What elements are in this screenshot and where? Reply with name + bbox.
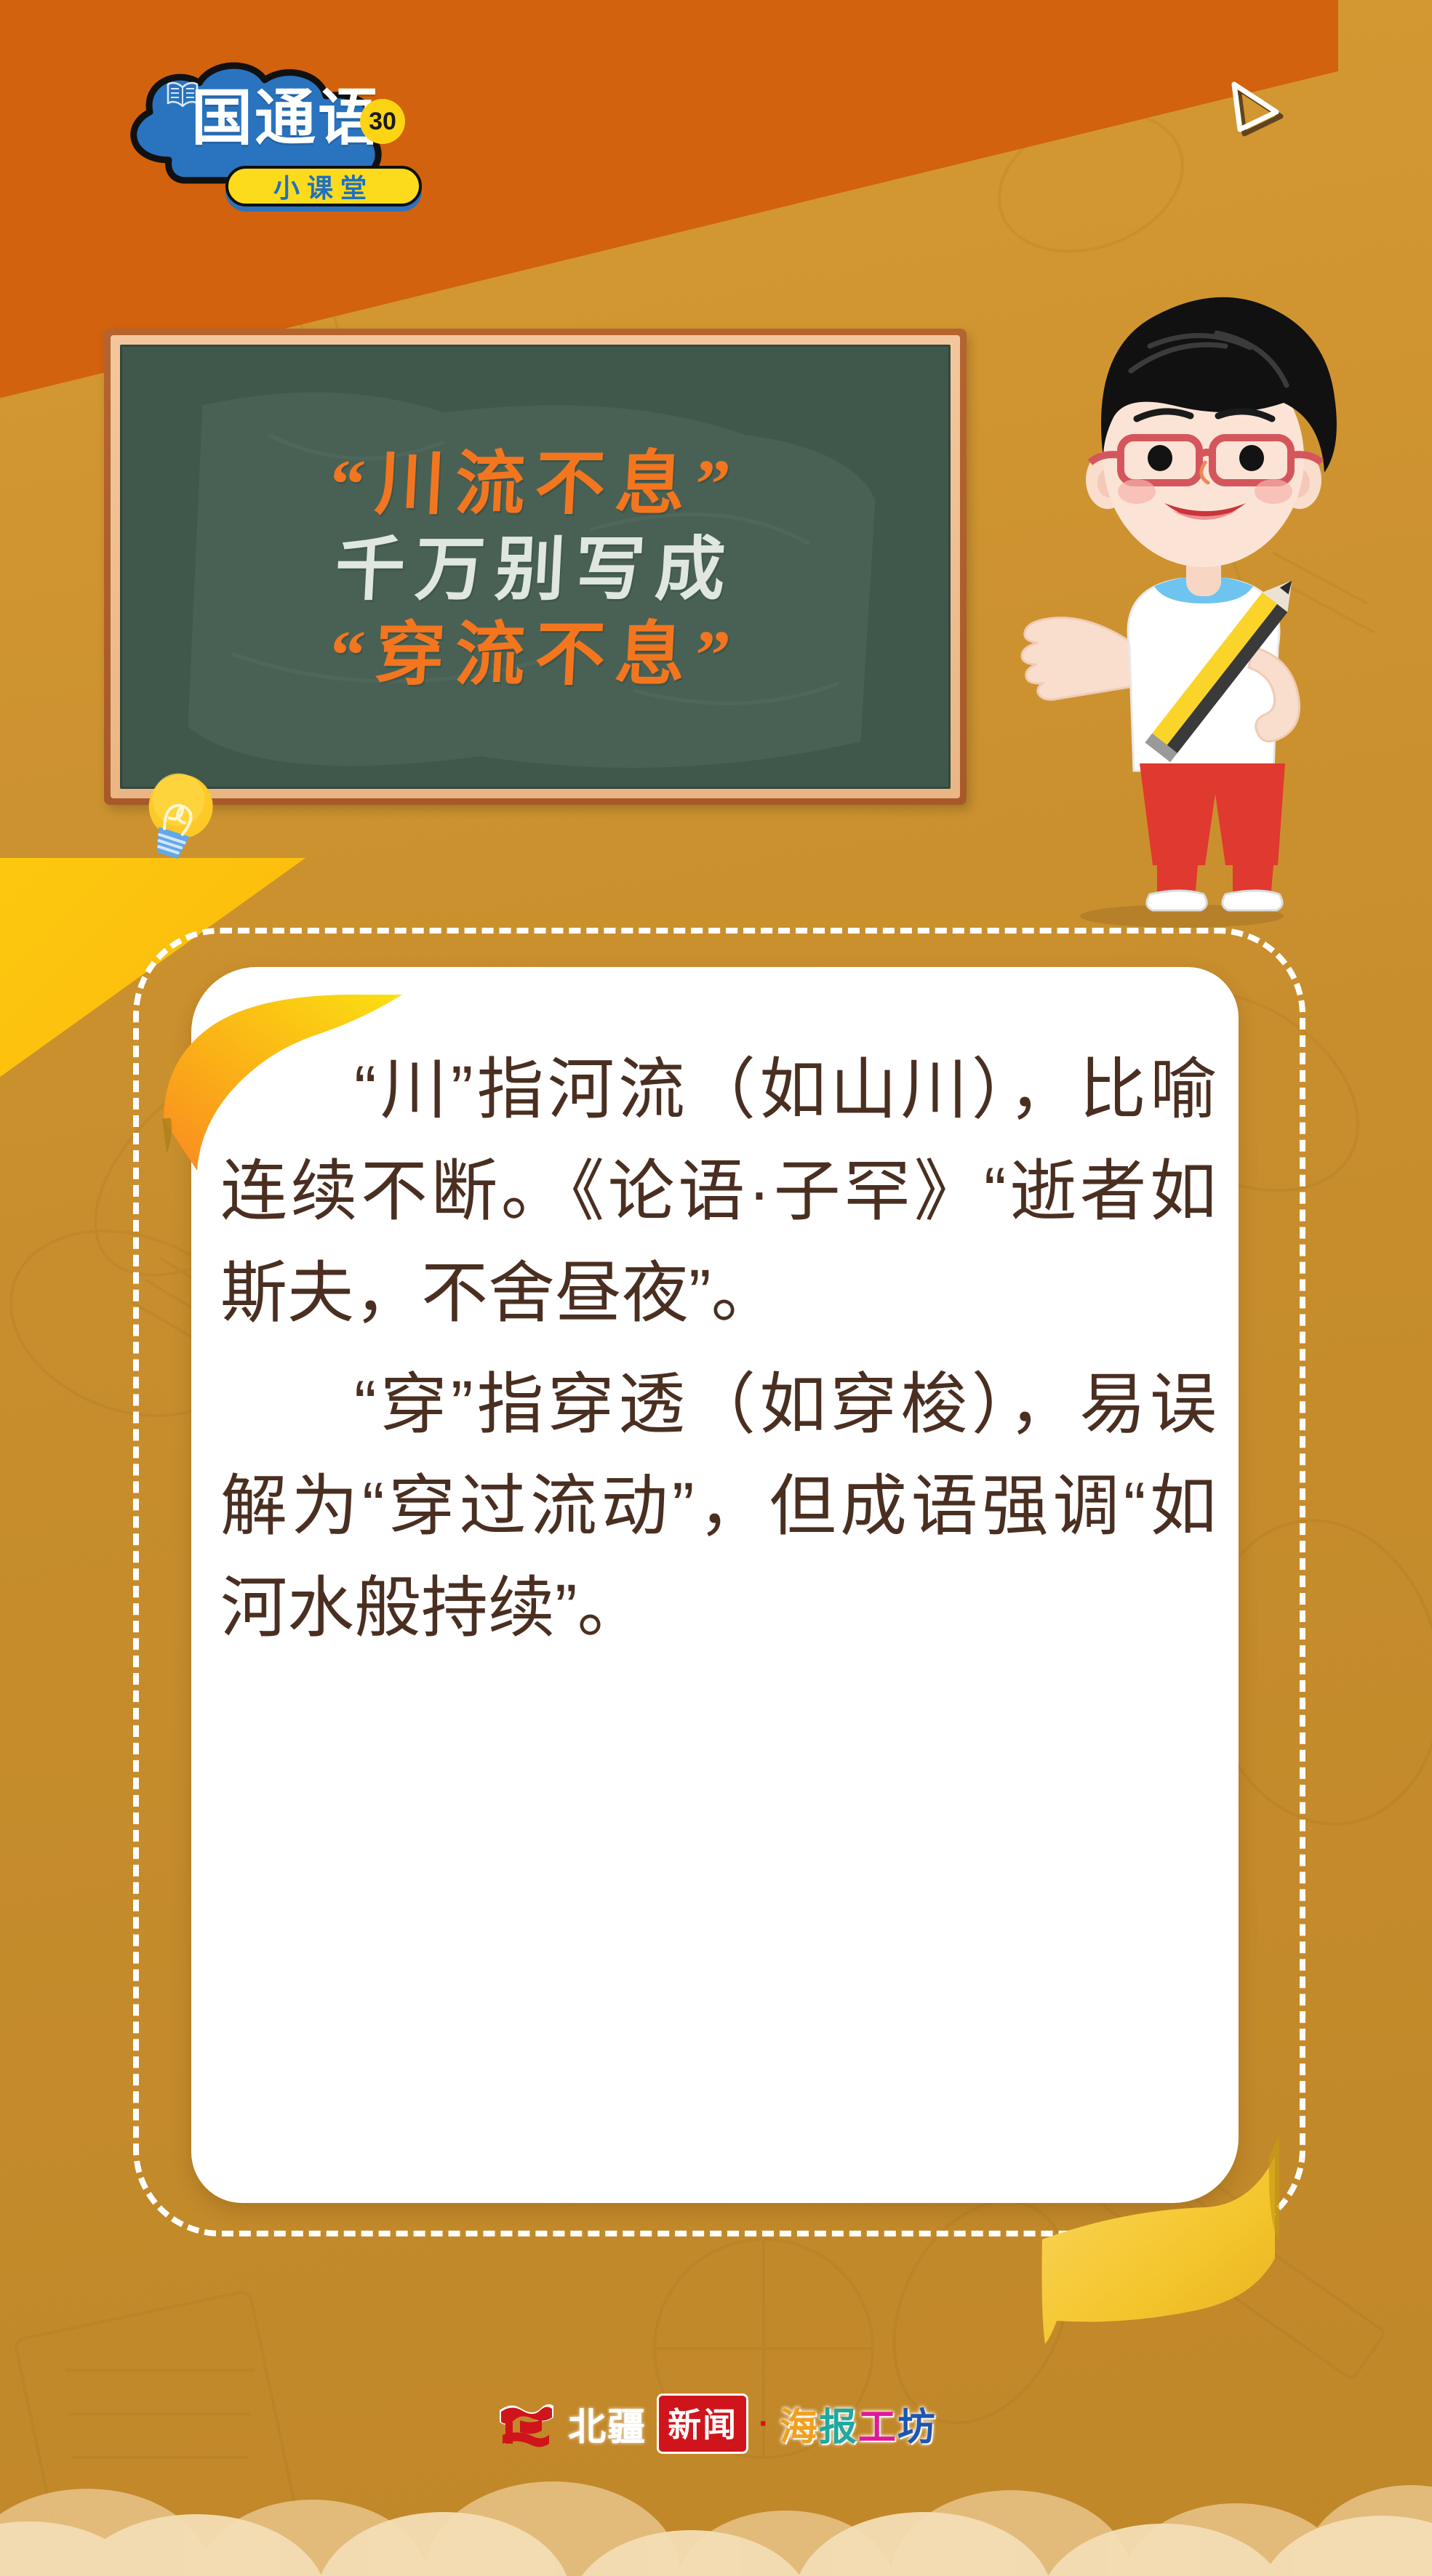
boy-character-illustration (985, 240, 1364, 931)
play-triangle-icon (1225, 79, 1291, 144)
blackboard-frame: “川流不息” 千万别写成 “穿流不息” (111, 335, 960, 798)
card-paragraph-1: “川”指河流（如山川），比喻连续不断。《论语·子罕》“逝者如斯夫，不舍昼夜”。 (220, 1040, 1217, 1344)
footer-brand-name: 北疆 (568, 2396, 647, 2451)
footer-workshop-char-3: 工 (858, 2396, 897, 2451)
beijiang-flag-icon (495, 2400, 558, 2448)
footer-workshop-char-2: 报 (819, 2396, 858, 2451)
card-body-text: “川”指河流（如山川），比喻连续不断。《论语·子罕》“逝者如斯夫，不舍昼夜”。 … (220, 1040, 1217, 1660)
blackboard-surface: “川流不息” 千万别写成 “穿流不息” (120, 345, 951, 789)
logo-subtitle: 小课堂 (225, 166, 422, 206)
footer-separator: · (759, 2406, 769, 2442)
poster-root: 国通语 30 小课堂 (0, 0, 1432, 2576)
blackboard-line-1: “川流不息” (328, 445, 743, 523)
footer-branding[interactable]: 北疆 新闻 · 海 报 工 坊 (0, 2394, 1432, 2454)
footer-workshop-name: 海 报 工 坊 (780, 2396, 937, 2451)
blackboard-text: “川流不息” 千万别写成 “穿流不息” (122, 347, 948, 787)
blackboard-line-3: “穿流不息” (328, 616, 743, 694)
footer-news-badge: 新闻 (657, 2394, 748, 2454)
logo-title: 国通语 (191, 87, 381, 148)
ribbon-bottom-right-decoration (964, 2130, 1305, 2378)
footer-workshop-char-1: 海 (780, 2396, 819, 2451)
blackboard-line-2: 千万别写成 (333, 531, 737, 609)
logo-episode-badge: 30 (360, 99, 405, 144)
brand-logo[interactable]: 国通语 30 小课堂 (102, 64, 444, 217)
footer-workshop-char-4: 坊 (897, 2396, 937, 2451)
light-bulb-icon (138, 769, 225, 864)
blackboard: “川流不息” 千万别写成 “穿流不息” (104, 329, 967, 805)
card-paragraph-2: “穿”指穿透（如穿梭），易误解为“穿过流动”，但成语强调“如河水般持续”。 (220, 1355, 1217, 1659)
